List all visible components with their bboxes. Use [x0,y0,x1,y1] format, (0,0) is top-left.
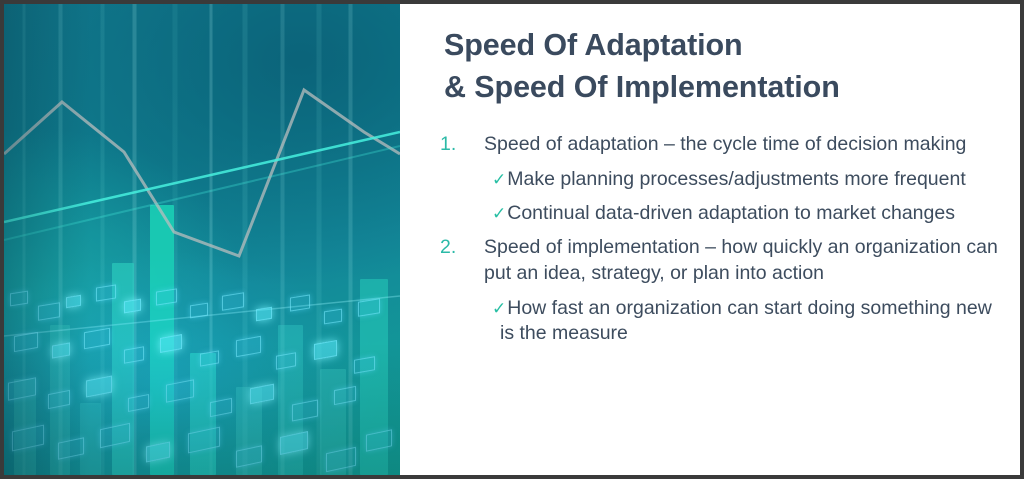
list-item-numeral: 2. [440,235,474,261]
list-item-text: Speed of implementation – how quickly an… [484,235,1006,286]
bullet-list: 1. Speed of adaptation – the cycle time … [436,132,1006,356]
list-item: 1. Speed of adaptation – the cycle time … [436,132,1006,158]
sub-bullet-item: ✓Make planning processes/adjustments mor… [436,167,1006,192]
slide-content-area: Speed Of Adaptation & Speed Of Implement… [400,4,1020,475]
sub-bullet-text: How fast an organization can start doing… [500,297,992,344]
page-title: Speed Of Adaptation & Speed Of Implement… [444,24,1004,108]
list-item-numeral: 1. [440,132,474,158]
sub-bullet-item: ✓How fast an organization can start doin… [436,296,1006,347]
check-icon: ✓ [492,299,506,318]
cyan-diagonal-line [4,132,400,222]
sub-bullet-text: Continual data-driven adaptation to mark… [507,202,955,224]
check-icon: ✓ [492,170,506,189]
title-line-1: Speed Of Adaptation [444,24,1004,66]
title-line-2: & Speed Of Implementation [444,66,1004,108]
list-item: 2. Speed of implementation – how quickly… [436,235,1006,286]
sub-bullet-item: ✓Continual data-driven adaptation to mar… [436,201,1006,226]
gray-trend-line [4,90,400,256]
cyan-diagonal-line-secondary [4,146,400,240]
list-item-text: Speed of adaptation – the cycle time of … [484,132,1006,158]
check-icon: ✓ [492,204,506,223]
slide: Speed Of Adaptation & Speed Of Implement… [0,0,1024,479]
sub-bullet-text: Make planning processes/adjustments more… [507,168,966,190]
abstract-business-graphic-image [4,4,400,475]
